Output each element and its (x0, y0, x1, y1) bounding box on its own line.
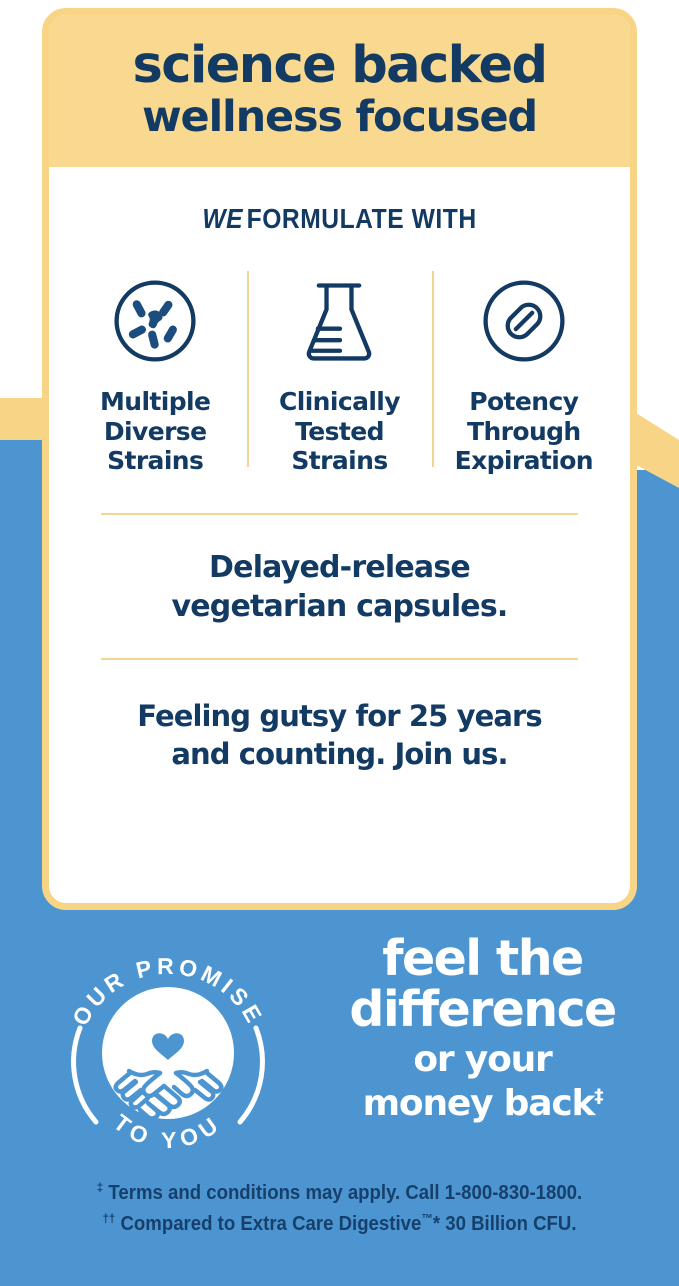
pitch-footnote-marker: ‡ (594, 1086, 602, 1107)
feature-label-line: Strains (253, 446, 425, 475)
footnote-1-marker: ‡ (97, 1180, 103, 1194)
info-card: science backed wellness focused WEFORMUL… (42, 8, 637, 910)
footnote-2: †† Compared to Extra Care Digestive™* 30… (24, 1209, 655, 1240)
feature-label: Multiple Diverse Strains (69, 387, 241, 475)
feature-label-line: Multiple (69, 387, 241, 416)
footnote-2-text: Compared to Extra Care Digestive (120, 1213, 421, 1235)
guarantee-pitch: feel the difference or your money back‡ (300, 934, 665, 1125)
feature-label-line: Tested (253, 417, 425, 446)
feature-item-potency-through-expiration: Potency Through Expiration (432, 269, 616, 475)
pitch-line-4: money back‡ (300, 1084, 665, 1124)
middle-statement: Delayed-release vegetarian capsules. (63, 515, 616, 658)
feature-item-multiple-diverse-strains: Multiple Diverse Strains (63, 269, 247, 475)
closing-statement: Feeling gutsy for 25 years and counting.… (63, 660, 616, 773)
pitch-line-4-text: money back (363, 1083, 595, 1124)
feature-label: Clinically Tested Strains (253, 387, 425, 475)
feature-list: Multiple Diverse Strains (63, 269, 616, 475)
microbe-circle-icon (69, 269, 241, 373)
feature-item-clinically-tested-strains: Clinically Tested Strains (247, 269, 431, 475)
feature-label-line: Expiration (438, 446, 610, 475)
headline-secondary: wellness focused (69, 91, 610, 143)
eyebrow-heading: WEFORMULATE WITH (96, 203, 583, 235)
footnote-2-marker: †† (102, 1211, 115, 1225)
feature-label-line: Clinically (253, 387, 425, 416)
eyebrow-emphasis: WE (202, 203, 243, 234)
footnote-1: ‡ Terms and conditions may apply. Call 1… (24, 1178, 655, 1209)
middle-statement-line: Delayed-release (73, 549, 606, 587)
footnote-1-text: Terms and conditions may apply. Call 1-8… (108, 1182, 582, 1204)
feature-label: Potency Through Expiration (438, 387, 610, 475)
footnote-2-tail: 30 Billion CFU. (445, 1213, 576, 1235)
feature-label-line: Potency (438, 387, 610, 416)
eyebrow-rest: FORMULATE WITH (247, 203, 477, 234)
footnotes: ‡ Terms and conditions may apply. Call 1… (0, 1178, 679, 1240)
pitch-line-2: difference (300, 985, 665, 1036)
pitch-line-1: feel the (300, 934, 665, 985)
flask-icon (253, 269, 425, 373)
feature-label-line: Through (438, 417, 610, 446)
closing-statement-line: and counting. Join us. (73, 736, 606, 774)
asterisk-symbol: * (433, 1213, 440, 1235)
promise-band: OUR PROMISE TO YOU feel the difference o… (0, 928, 679, 1178)
card-header: science backed wellness focused (49, 15, 630, 167)
capsule-circle-icon (438, 269, 610, 373)
feature-label-line: Diverse (69, 417, 241, 446)
headline-primary: science backed (69, 41, 610, 91)
closing-statement-line: Feeling gutsy for 25 years (73, 698, 606, 736)
card-body: WEFORMULATE WITH (49, 203, 630, 773)
pitch-line-3: or your (300, 1040, 665, 1080)
feature-label-line: Strains (69, 446, 241, 475)
middle-statement-line: vegetarian capsules. (73, 588, 606, 626)
our-promise-badge: OUR PROMISE TO YOU (52, 940, 284, 1162)
trademark-symbol: ™ (421, 1211, 433, 1225)
promo-panel: science backed wellness focused WEFORMUL… (0, 0, 679, 1286)
